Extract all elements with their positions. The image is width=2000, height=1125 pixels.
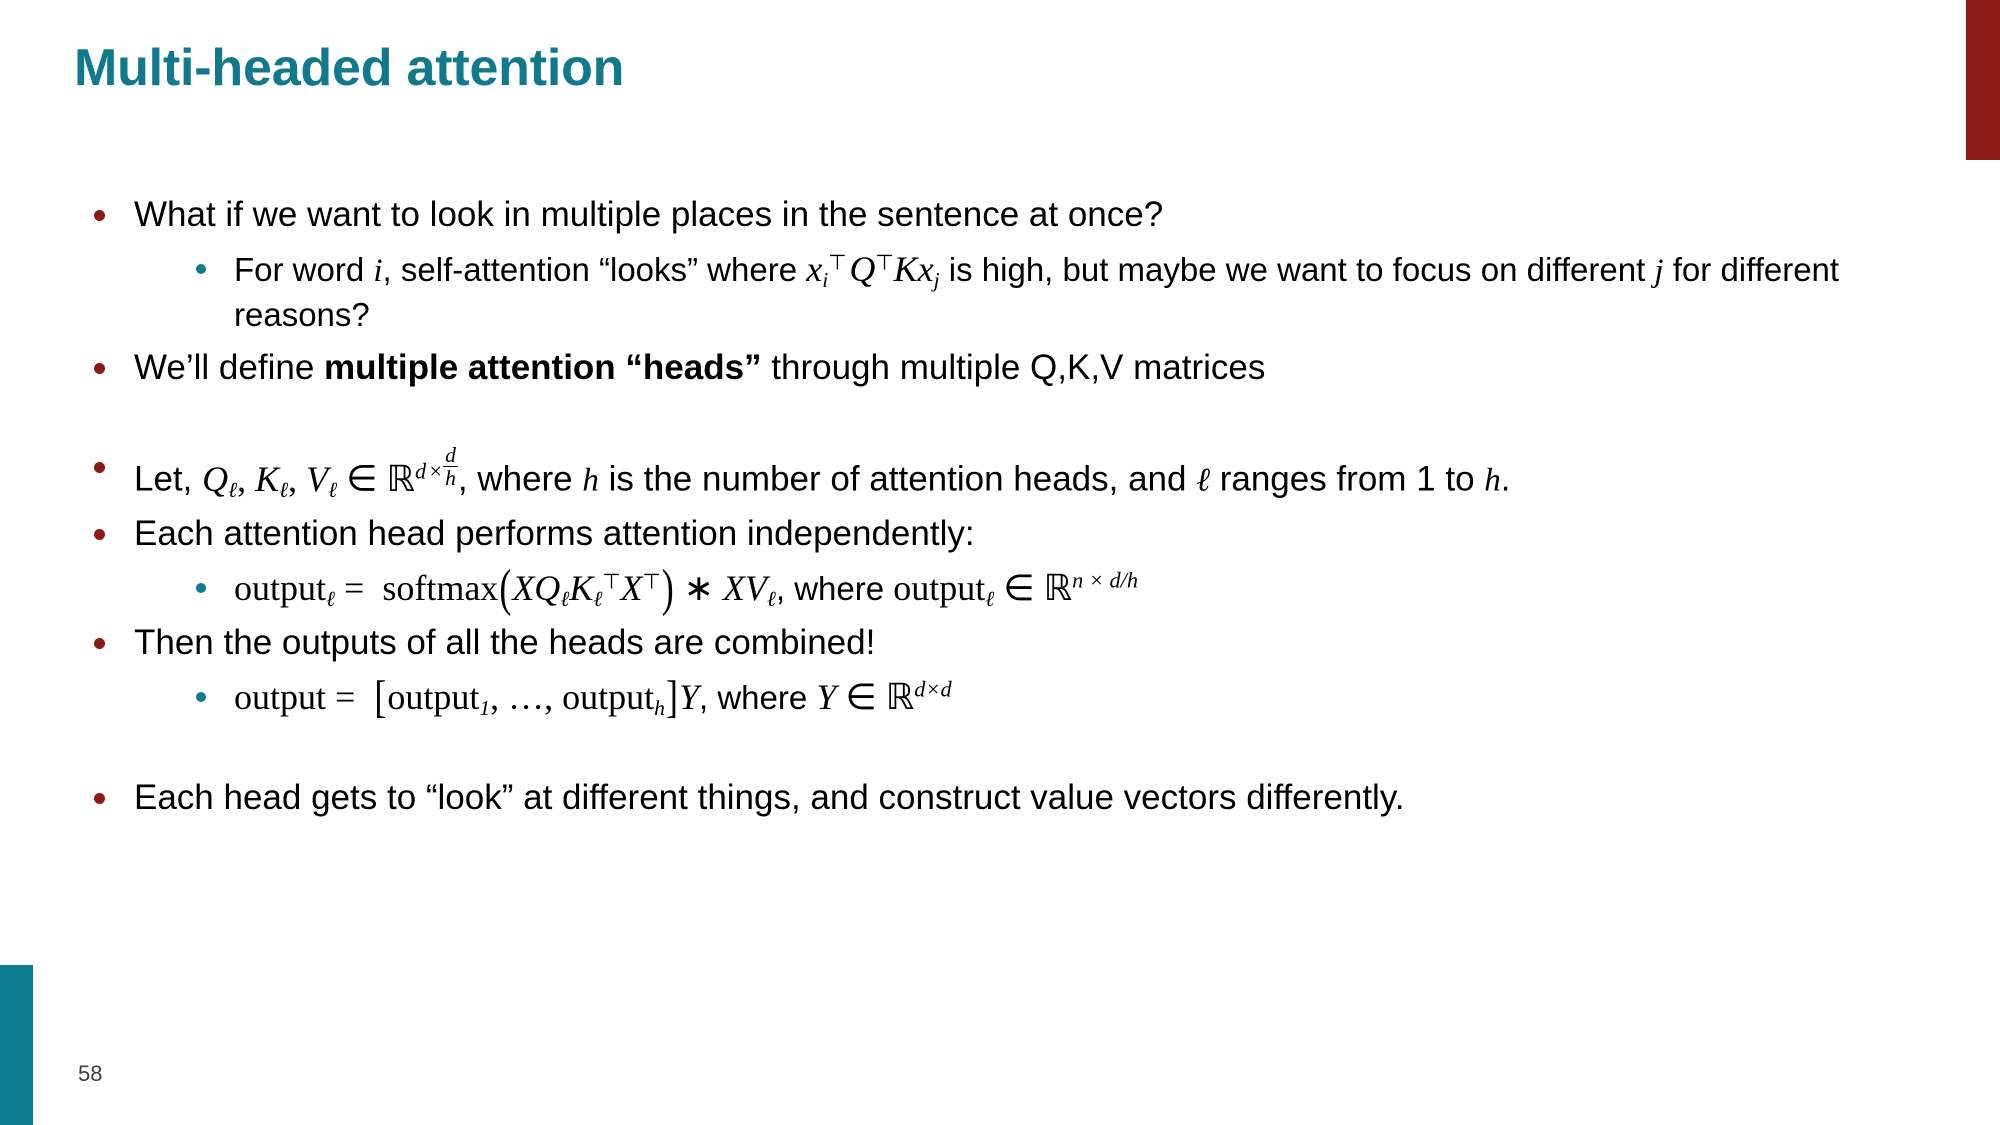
slide-body: What if we want to look in multiple plac…	[74, 192, 1944, 829]
math-softmax-label: softmax	[382, 568, 498, 608]
math-Y: Y	[679, 677, 699, 717]
blackboard-R-icon: ℝ	[1044, 568, 1073, 609]
math-transpose: ⊤	[828, 250, 846, 274]
math-fraction-d-over-h: dh	[443, 444, 458, 489]
bullet-marker-red	[94, 529, 105, 540]
math-ellipsis: , …,	[490, 677, 562, 717]
math-sub-ell: ℓ	[985, 587, 994, 611]
page-title: Multi-headed attention	[74, 38, 624, 98]
blackboard-R-icon: ℝ	[886, 677, 915, 718]
math-K: K	[569, 568, 593, 608]
bullet-item: Let, Qℓ, Kℓ, Vℓ ∈ ℝd ×dh, where h is the…	[74, 444, 1944, 503]
bullet-text-part-a: For word	[234, 251, 373, 288]
bullet-text: What if we want to look in multiple plac…	[134, 195, 1163, 234]
formula-tail-where: , where	[699, 679, 816, 716]
math-x2: x	[918, 249, 934, 289]
math-open-bracket: [	[373, 668, 387, 727]
bullet-text-part-a: Let,	[134, 460, 202, 499]
bullet-text-part-d: ranges from 1 to	[1210, 460, 1484, 499]
formula-tail-where: , where	[776, 570, 893, 607]
math-sub-ell: ℓ	[328, 478, 337, 502]
bullet-item-sub: output = [output1, …, outputh]Y, where Y…	[74, 674, 1944, 722]
bottom-left-accent-bar	[0, 965, 33, 1125]
slide: Multi-headed attention What if we want t…	[0, 0, 2000, 1125]
math-sub-ell: ℓ	[560, 587, 569, 611]
formula-qkv-subscript-ell: Qℓ, Kℓ, Vℓ	[202, 459, 337, 499]
bullet-item: Each attention head performs attention i…	[74, 511, 1944, 557]
math-x: x	[806, 249, 822, 289]
top-right-accent-bar	[1966, 0, 2000, 160]
vertical-spacer	[74, 398, 1944, 444]
bullet-text-part-b: , where	[458, 460, 583, 499]
formula-xi-qt-k-xj: xi⊤ Q⊤Kxj	[806, 249, 939, 289]
math-close-bracket: ]	[665, 668, 679, 727]
math-transpose: ⊤	[875, 250, 893, 274]
math-equals: =	[335, 568, 382, 608]
math-K: K	[894, 249, 918, 289]
bullet-marker-teal	[196, 583, 206, 593]
math-star-operator: ∗	[675, 568, 723, 608]
bullet-text-part-c: is high, but maybe we want to focus on d…	[940, 251, 1655, 288]
math-sub-one: 1	[479, 696, 490, 720]
fraction-numerator: d	[443, 444, 458, 467]
bullet-marker-red	[94, 363, 105, 374]
math-element-of: ∈	[836, 677, 885, 717]
math-var-j: j	[1654, 253, 1663, 289]
bullet-marker-red	[94, 793, 105, 804]
vertical-spacer	[74, 729, 1944, 775]
math-sub-ell: ℓ	[228, 478, 237, 502]
math-exponent-d: d ×	[415, 458, 443, 483]
math-sub-ell: ℓ	[767, 587, 776, 611]
math-output-1-label: output	[387, 677, 479, 717]
bullet-text: Each attention head performs attention i…	[134, 514, 975, 553]
formula-output-softmax: outputℓ = softmax(XQℓKℓ⊤X⊤) ∗ XVℓ	[234, 568, 776, 608]
math-exponent-n-by-d-over-h: n × d/h	[1072, 568, 1138, 593]
math-sub-ell: ℓ	[326, 587, 335, 611]
bullet-item: Each head gets to “look” at different th…	[74, 775, 1944, 821]
math-sub-ell: ℓ	[279, 478, 288, 502]
bullet-text-bold: multiple attention “heads”	[324, 348, 762, 387]
slide-number: 58	[78, 1061, 102, 1087]
math-equals: =	[326, 677, 373, 717]
math-var-h2: h	[1484, 463, 1501, 499]
math-Q: Q	[849, 249, 875, 289]
bullet-text: Each head gets to “look” at different th…	[134, 778, 1404, 817]
math-output-label: output	[234, 677, 326, 717]
bullet-marker-teal	[196, 264, 206, 274]
math-Q: Q	[202, 459, 228, 499]
math-X: X	[621, 568, 643, 608]
bullet-text-part-a: We’ll define	[134, 348, 324, 387]
math-V: V	[306, 459, 328, 499]
math-sub-h: h	[654, 696, 665, 720]
bullet-marker-red	[94, 638, 105, 649]
math-var-ell: ℓ	[1196, 463, 1210, 499]
bullet-item: We’ll define multiple attention “heads” …	[74, 345, 1944, 391]
math-transpose: ⊤	[643, 569, 661, 593]
math-element-of: ∈	[994, 568, 1043, 608]
bullet-text-part-b: , self-attention “looks” where	[383, 251, 807, 288]
formula-output-range: outputℓ ∈ ℝn × d/h	[893, 568, 1138, 608]
bullet-item-sub: For word i, self-attention “looks” where…	[74, 246, 1944, 337]
math-Y2: Y	[816, 677, 836, 717]
bullet-marker-red	[94, 210, 105, 221]
math-element-of: ∈	[337, 459, 386, 499]
math-var-h: h	[582, 463, 599, 499]
blackboard-R-icon: ℝ	[386, 459, 415, 500]
bullet-marker-teal	[196, 692, 206, 702]
math-output-h-label: output	[562, 677, 654, 717]
bullet-text: Then the outputs of all the heads are co…	[134, 623, 875, 662]
math-comma: ,	[288, 459, 306, 499]
math-XV: XV	[723, 568, 767, 608]
bullet-item-sub: outputℓ = softmax(XQℓKℓ⊤X⊤) ∗ XVℓ, where…	[74, 565, 1944, 613]
fraction-denominator: h	[443, 467, 458, 489]
math-sub-ell: ℓ	[593, 587, 602, 611]
math-open-paren: (	[498, 554, 512, 623]
math-XQ: XQ	[512, 568, 560, 608]
bullet-text-part-c: is the number of attention heads, and	[599, 460, 1196, 499]
math-exponent-d-by-d: d×d	[914, 677, 951, 702]
bullet-marker-red	[94, 462, 105, 473]
math-K: K	[255, 459, 279, 499]
bullet-item: Then the outputs of all the heads are co…	[74, 620, 1944, 666]
math-output-label: output	[893, 568, 985, 608]
math-real-numbers-set: ℝd ×dh	[386, 459, 457, 499]
formula-Y-range: Y ∈ ℝd×d	[816, 677, 951, 717]
formula-output-concat: output = [output1, …, outputh]Y	[234, 677, 699, 717]
math-var-i: i	[373, 253, 382, 289]
math-comma: ,	[237, 459, 255, 499]
math-output-label: output	[234, 568, 326, 608]
bullet-text-part-e: .	[1501, 460, 1511, 499]
bullet-item: What if we want to look in multiple plac…	[74, 192, 1944, 238]
math-close-paren: )	[661, 554, 675, 623]
math-transpose: ⊤	[602, 569, 620, 593]
bullet-text-part-b: through multiple Q,K,V matrices	[762, 348, 1266, 387]
